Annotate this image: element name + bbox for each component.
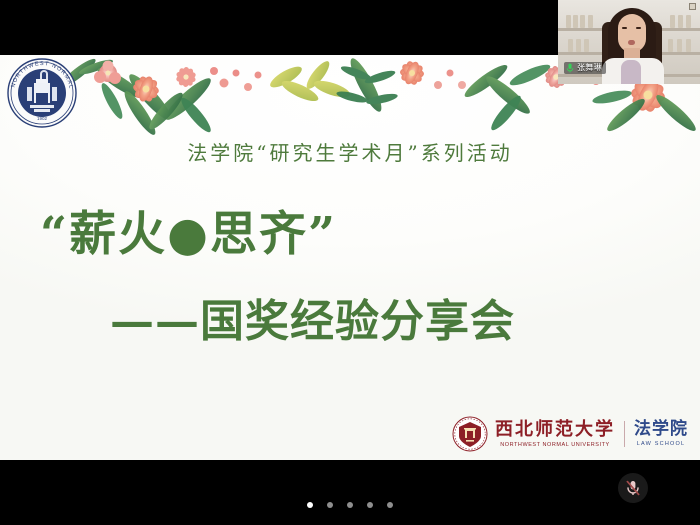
university-name-en: NORTHWEST NORMAL UNIVERSITY — [500, 442, 609, 448]
university-name-cn: 西北师范大学 — [495, 421, 615, 439]
school-name-en: LAW SCHOOL — [637, 441, 685, 447]
shelf-item — [668, 39, 673, 52]
university-emblem-icon: NORTHWEST NORMAL UNIVERSITY 1902 — [6, 57, 78, 129]
participant-name-badge: 张舞琳 — [564, 62, 606, 74]
page-dot-4[interactable] — [367, 502, 373, 508]
shelf-item — [568, 39, 573, 52]
shelf-item — [686, 39, 691, 52]
participant-face — [618, 14, 646, 52]
mic-active-icon — [566, 63, 574, 73]
university-wordmark: 西北师范大学 NORTHWEST NORMAL UNIVERSITY — [495, 421, 615, 448]
shelf-item — [678, 15, 683, 28]
shelf-item — [686, 15, 691, 28]
page-dot-5[interactable] — [387, 502, 393, 508]
mic-muted-icon — [624, 479, 642, 497]
page-dot-2[interactable] — [327, 502, 333, 508]
page-dot-3[interactable] — [347, 502, 353, 508]
shelf-item — [573, 15, 578, 28]
shelf-item — [576, 39, 581, 52]
video-meeting-screen: NORTHWEST NORMAL UNIVERSITY 1902 法学院“研究生… — [0, 0, 700, 525]
participant-eye — [622, 27, 627, 29]
participant-name: 张舞琳 — [577, 63, 602, 73]
shelf-item — [584, 39, 589, 52]
letterbox-top — [0, 0, 558, 55]
lockup-divider — [624, 421, 625, 447]
shelf-item — [566, 15, 571, 28]
shelf-item — [670, 15, 675, 28]
slide-main-title: “薪火●思齐” — [40, 195, 337, 264]
page-dot-1[interactable] — [307, 502, 313, 508]
participant-eye — [636, 27, 641, 29]
self-view-video-tile[interactable]: 张舞琳 — [558, 0, 700, 84]
participant-shirt — [621, 60, 641, 84]
slide-kicker-text: 法学院“研究生学术月”系列活动 — [0, 137, 700, 166]
slide-footer-lockup: 西北师范大学 NORTHWEST NORMAL UNIVERSITY 法学院 L… — [452, 416, 688, 452]
slide-subtitle: ——国奖经验分享会 — [110, 285, 515, 349]
bottom-control-bar — [0, 460, 700, 525]
school-name-cn: 法学院 — [634, 421, 688, 438]
shared-screen-slide: NORTHWEST NORMAL UNIVERSITY 1902 法学院“研究生… — [0, 55, 700, 460]
shelf-item — [588, 15, 593, 28]
university-crest-icon — [452, 416, 488, 452]
school-wordmark: 法学院 LAW SCHOOL — [634, 421, 688, 447]
page-indicator-dots[interactable] — [0, 502, 700, 508]
shelf-item — [677, 39, 682, 52]
mic-mute-toggle-button[interactable] — [618, 473, 648, 503]
view-switch-icon[interactable] — [689, 3, 696, 10]
participant-mouth — [628, 40, 635, 45]
shelf-item — [580, 15, 585, 28]
svg-text:1902: 1902 — [37, 116, 48, 121]
